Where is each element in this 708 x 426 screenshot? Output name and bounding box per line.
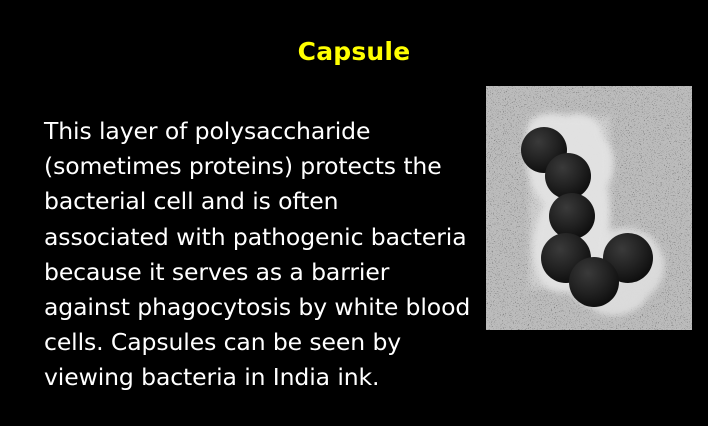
bacterial-cell	[549, 193, 595, 239]
body-line: This layer of polysaccharide	[44, 114, 476, 149]
body-line: cells. Capsules can be seen by	[44, 325, 476, 360]
body-line: viewing bacteria in India ink.	[44, 360, 476, 395]
capsule-micrograph-image	[486, 86, 692, 330]
body-line: because it serves as a barrier	[44, 255, 476, 290]
body-line: bacterial cell and is often	[44, 184, 476, 219]
body-line: (sometimes proteins) protects the	[44, 149, 476, 184]
bacterial-cell	[569, 257, 619, 307]
body-paragraph: This layer of polysaccharide (sometimes …	[44, 114, 476, 396]
page-title: Capsule	[0, 38, 708, 66]
body-line: against phagocytosis by white blood	[44, 290, 476, 325]
body-line: associated with pathogenic bacteria	[44, 220, 476, 255]
bacterial-cell	[545, 153, 591, 199]
slide-canvas: Capsule This layer of polysaccharide (so…	[0, 0, 708, 426]
micrograph-svg	[486, 86, 692, 330]
